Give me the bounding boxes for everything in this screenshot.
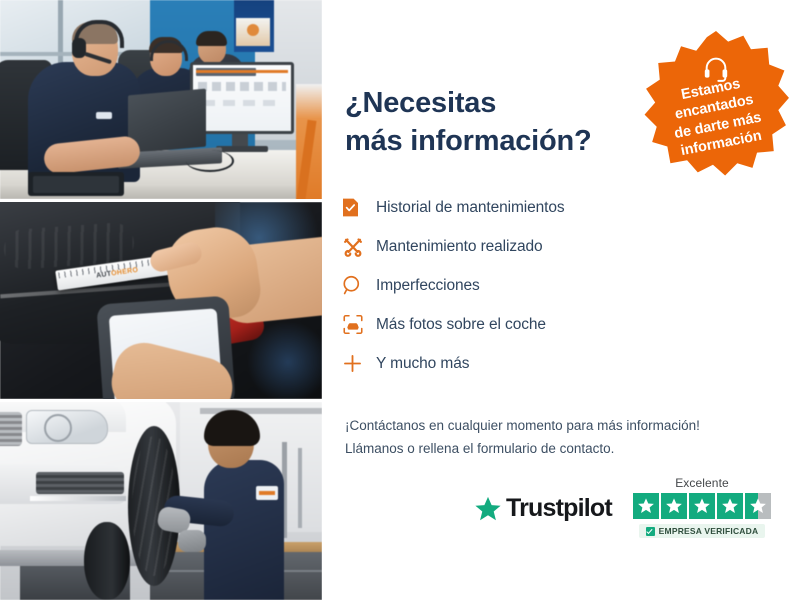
rating-star-5-half: [745, 493, 771, 519]
document-check-icon: [342, 195, 376, 221]
rating-star-4: [717, 493, 743, 519]
list-item-label: Mantenimiento realizado: [376, 238, 543, 256]
car-inspection-ruler-photo: AUTOHERO: [0, 202, 322, 399]
photo-column: AUTOHERO: [0, 0, 322, 600]
car-photo-frame-icon: [342, 312, 376, 338]
trustpilot-wordmark: Trustpilot: [506, 494, 612, 523]
crossed-tools-icon: [342, 234, 376, 260]
list-item: Imperfecciones: [342, 266, 672, 305]
rating-star-2: [661, 493, 687, 519]
magnifier-icon: [342, 273, 376, 299]
list-item-label: Y mucho más: [376, 355, 469, 373]
contact-text: ¡Contáctanos en cualquier momento para m…: [345, 414, 785, 460]
list-item: Y mucho más: [342, 344, 672, 383]
rating-star-1: [633, 493, 659, 519]
trustpilot-stars: [633, 493, 771, 519]
page-title-line-1: ¿Necesitas: [345, 87, 496, 119]
check-icon: [646, 527, 655, 536]
list-item-label: Historial de mantenimientos: [376, 199, 565, 217]
trustpilot-rating: Excelente: [622, 476, 782, 538]
mechanic-wheel-inspection-photo: [0, 402, 322, 600]
page-title-line-2: más información?: [345, 123, 635, 161]
content-panel: ¿Necesitas más información? Estamos enca…: [322, 0, 799, 600]
trustpilot-star-icon: [474, 495, 502, 523]
list-item: Más fotos sobre el coche: [342, 305, 672, 344]
verified-company-label: EMPRESA VERIFICADA: [659, 526, 759, 536]
promo-card: AUTOHERO: [0, 0, 799, 600]
call-center-agents-photo: [0, 0, 322, 199]
list-item-label: Imperfecciones: [376, 277, 480, 295]
feature-list: Historial de mantenimientos Mantenimient…: [342, 188, 672, 383]
contact-line-1: ¡Contáctanos en cualquier momento para m…: [345, 418, 700, 433]
list-item-label: Más fotos sobre el coche: [376, 316, 546, 334]
contact-badge: Estamos encantados de darte más informac…: [640, 28, 792, 180]
rating-star-3: [689, 493, 715, 519]
contact-line-2: Llámanos o rellena el formulario de cont…: [345, 437, 785, 460]
page-title: ¿Necesitas más información?: [345, 85, 635, 160]
trustpilot-logo: Trustpilot: [474, 494, 612, 523]
list-item: Historial de mantenimientos: [342, 188, 672, 227]
verified-company-badge: EMPRESA VERIFICADA: [639, 524, 766, 538]
trustpilot-widget[interactable]: Trustpilot Excelente: [474, 476, 784, 552]
trustpilot-rating-label: Excelente: [675, 476, 729, 490]
list-item: Mantenimiento realizado: [342, 227, 672, 266]
plus-icon: [342, 351, 376, 377]
